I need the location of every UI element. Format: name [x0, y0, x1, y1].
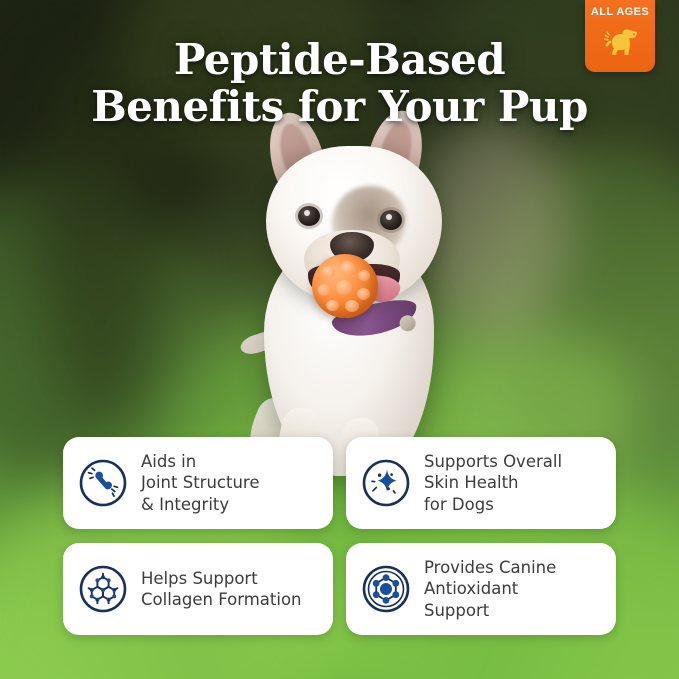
- feature-card-text: Helps Support Collagen Formation: [141, 568, 302, 610]
- antioxidant-molecule-icon: [360, 563, 412, 615]
- title-line-2: Benefits for Your Pup: [24, 83, 655, 130]
- title-line-1: Peptide-Based: [24, 36, 655, 83]
- feature-card-antioxidant[interactable]: Provides Canine Antioxidant Support: [346, 543, 616, 635]
- infographic-banner: Peptide-Based Benefits for Your Pup ALL …: [0, 0, 679, 679]
- feature-card-text: Provides Canine Antioxidant Support: [424, 557, 556, 620]
- joint-bone-icon: [77, 457, 129, 509]
- orange-ball: [312, 254, 378, 318]
- feature-line: Aids in: [141, 451, 259, 472]
- feature-line: Provides Canine: [424, 557, 556, 578]
- feature-line: & Integrity: [141, 494, 259, 515]
- collagen-molecule-icon: [77, 563, 129, 615]
- feature-line: Collagen Formation: [141, 589, 302, 610]
- feature-card-text: Supports Overall Skin Health for Dogs: [424, 451, 562, 514]
- feature-card-collagen[interactable]: Helps Support Collagen Formation: [63, 543, 333, 635]
- all-ages-badge: ALL AGES: [585, 0, 655, 72]
- feature-line: Skin Health: [424, 472, 562, 493]
- sparkle-skin-icon: [360, 457, 412, 509]
- feature-line: for Dogs: [424, 494, 562, 515]
- feature-line: Antioxidant: [424, 578, 556, 599]
- sitting-dog-icon: [597, 21, 643, 66]
- feature-card-joint-structure[interactable]: Aids in Joint Structure & Integrity: [63, 437, 333, 529]
- feature-line: Joint Structure: [141, 472, 259, 493]
- page-title: Peptide-Based Benefits for Your Pup: [0, 36, 679, 130]
- dog-photo: [212, 118, 502, 478]
- feature-card-grid: Aids in Joint Structure & Integrity: [63, 437, 616, 635]
- feature-card-skin-health[interactable]: Supports Overall Skin Health for Dogs: [346, 437, 616, 529]
- feature-line: Support: [424, 600, 556, 621]
- feature-line: Supports Overall: [424, 451, 562, 472]
- feature-card-text: Aids in Joint Structure & Integrity: [141, 451, 259, 514]
- feature-line: Helps Support: [141, 568, 302, 589]
- all-ages-badge-label: ALL AGES: [591, 7, 649, 18]
